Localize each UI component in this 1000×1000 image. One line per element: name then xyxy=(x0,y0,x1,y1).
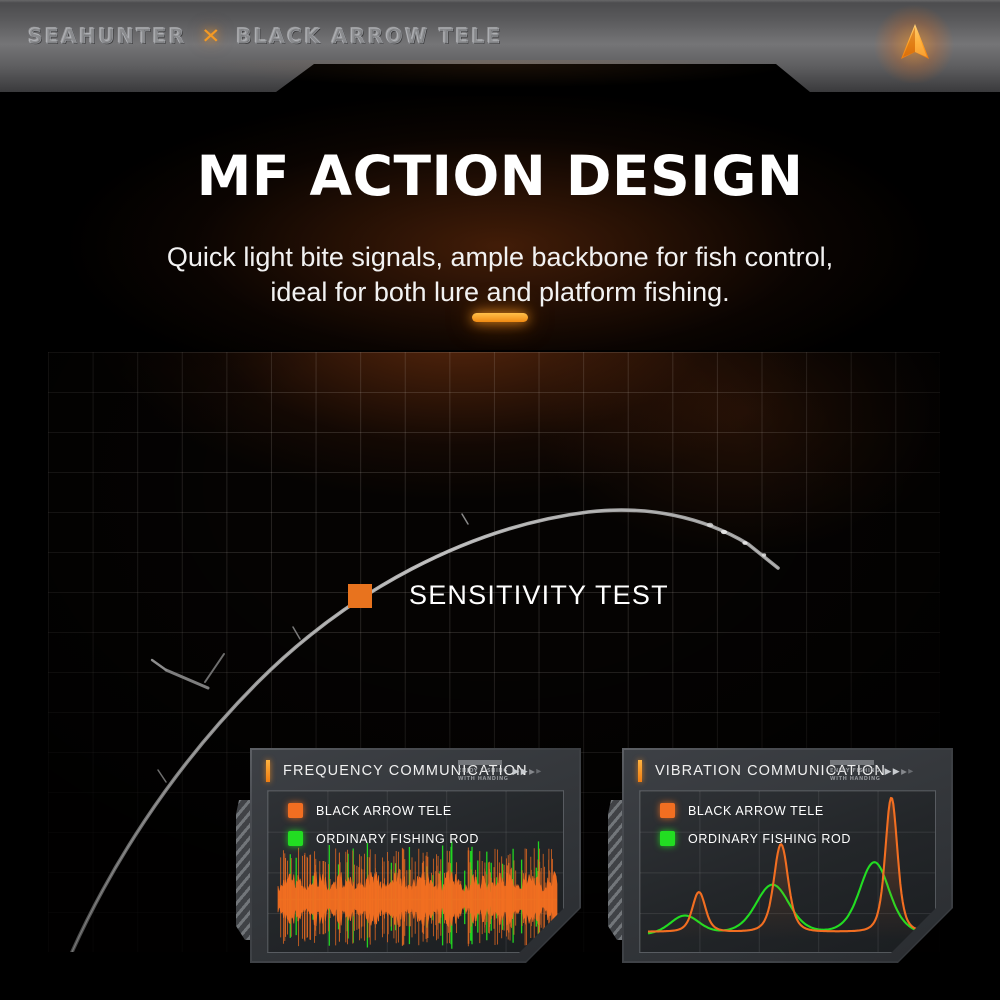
vibration-communication-panel: VIBRATION COMMUNICATION ENJOY FISHING WI… xyxy=(608,748,953,963)
page-header: SEAHUNTER ✕ BLACK ARROW TELE xyxy=(0,0,1000,100)
legend-label: BLACK ARROW TELE xyxy=(688,804,824,818)
panel-decor-line-1: ENJOY FISHING xyxy=(458,768,508,775)
page-title: MF ACTION DESIGN xyxy=(0,144,1000,208)
brand-row: SEAHUNTER ✕ BLACK ARROW TELE xyxy=(28,19,503,53)
sensitivity-test-text: SENSITIVITY TEST xyxy=(409,580,669,611)
panel-decor-bar xyxy=(458,760,502,765)
frequency-communication-panel: FREQUENCY COMMUNICATION ENJOY FISHING WI… xyxy=(236,748,581,963)
arrow-glyph-4: ▶ xyxy=(536,767,541,775)
legend-item: ORDINARY FISHING ROD xyxy=(288,831,479,846)
legend-item: BLACK ARROW TELE xyxy=(660,803,851,818)
legend-label: ORDINARY FISHING ROD xyxy=(688,832,851,846)
legend-swatch-orange xyxy=(288,803,303,818)
arrow-glyph-3: ▶ xyxy=(529,767,535,776)
hero-subtitle-line-1: Quick light bite signals, ample backbone… xyxy=(60,240,940,275)
brand-name: SEAHUNTER xyxy=(28,24,186,48)
legend-label: ORDINARY FISHING ROD xyxy=(316,832,479,846)
panel-accent-tick xyxy=(638,760,642,782)
chart-legend: BLACK ARROW TELE ORDINARY FISHING ROD xyxy=(288,803,479,859)
panel-decor-stamp: ENJOY FISHING WITH HANDING ▶ ▶ ▶ ▶ xyxy=(458,758,553,784)
chart-legend: BLACK ARROW TELE ORDINARY FISHING ROD xyxy=(660,803,851,859)
frequency-chart: BLACK ARROW TELE ORDINARY FISHING ROD xyxy=(267,790,564,953)
legend-swatch-orange xyxy=(660,803,675,818)
panel-decor-arrows-icon: ▶ ▶ ▶ ▶ xyxy=(884,766,913,777)
legend-swatch-green xyxy=(660,831,675,846)
hero-section: MF ACTION DESIGN Quick light bite signal… xyxy=(0,96,1000,350)
panel-decor-bar xyxy=(830,760,874,765)
arrow-glyph-2: ▶ xyxy=(893,766,900,777)
brand-model-name: BLACK ARROW TELE xyxy=(236,24,503,48)
hero-subtitle-line-2: ideal for both lure and platform fishing… xyxy=(60,275,940,310)
brand-separator-icon: ✕ xyxy=(202,24,221,48)
panel-accent-tick xyxy=(266,760,270,782)
logo-glyph xyxy=(898,23,932,63)
panel-decor-text: ENJOY FISHING WITH HANDING xyxy=(830,760,880,783)
panel-decor-text: ENJOY FISHING WITH HANDING xyxy=(458,760,508,783)
vibration-chart: BLACK ARROW TELE ORDINARY FISHING ROD xyxy=(639,790,936,953)
panel-decor-line-1: ENJOY FISHING xyxy=(830,768,880,775)
arrow-glyph-1: ▶ xyxy=(884,766,891,777)
panel-decor-stamp: ENJOY FISHING WITH HANDING ▶ ▶ ▶ ▶ xyxy=(830,758,925,784)
legend-item: BLACK ARROW TELE xyxy=(288,803,479,818)
panel-decor-arrows-icon: ▶ ▶ ▶ ▶ xyxy=(512,766,541,777)
hero-background-glow xyxy=(0,96,1000,350)
legend-label: BLACK ARROW TELE xyxy=(316,804,452,818)
panel-decor-line-2: WITH HANDING xyxy=(458,776,508,783)
legend-item: ORDINARY FISHING ROD xyxy=(660,831,851,846)
arrow-glyph-1: ▶ xyxy=(512,766,519,777)
panel-decor-line-2: WITH HANDING xyxy=(830,776,880,783)
legend-swatch-green xyxy=(288,831,303,846)
arrow-glyph-3: ▶ xyxy=(901,767,907,776)
sensitivity-swatch xyxy=(348,584,372,608)
title-divider xyxy=(472,313,528,322)
hero-subtitle: Quick light bite signals, ample backbone… xyxy=(60,240,940,310)
arrow-glyph-4: ▶ xyxy=(908,767,913,775)
arrowhead-triangle-logo-icon xyxy=(890,17,938,69)
sensitivity-test-label: SENSITIVITY TEST xyxy=(348,580,669,611)
arrow-glyph-2: ▶ xyxy=(521,766,528,777)
